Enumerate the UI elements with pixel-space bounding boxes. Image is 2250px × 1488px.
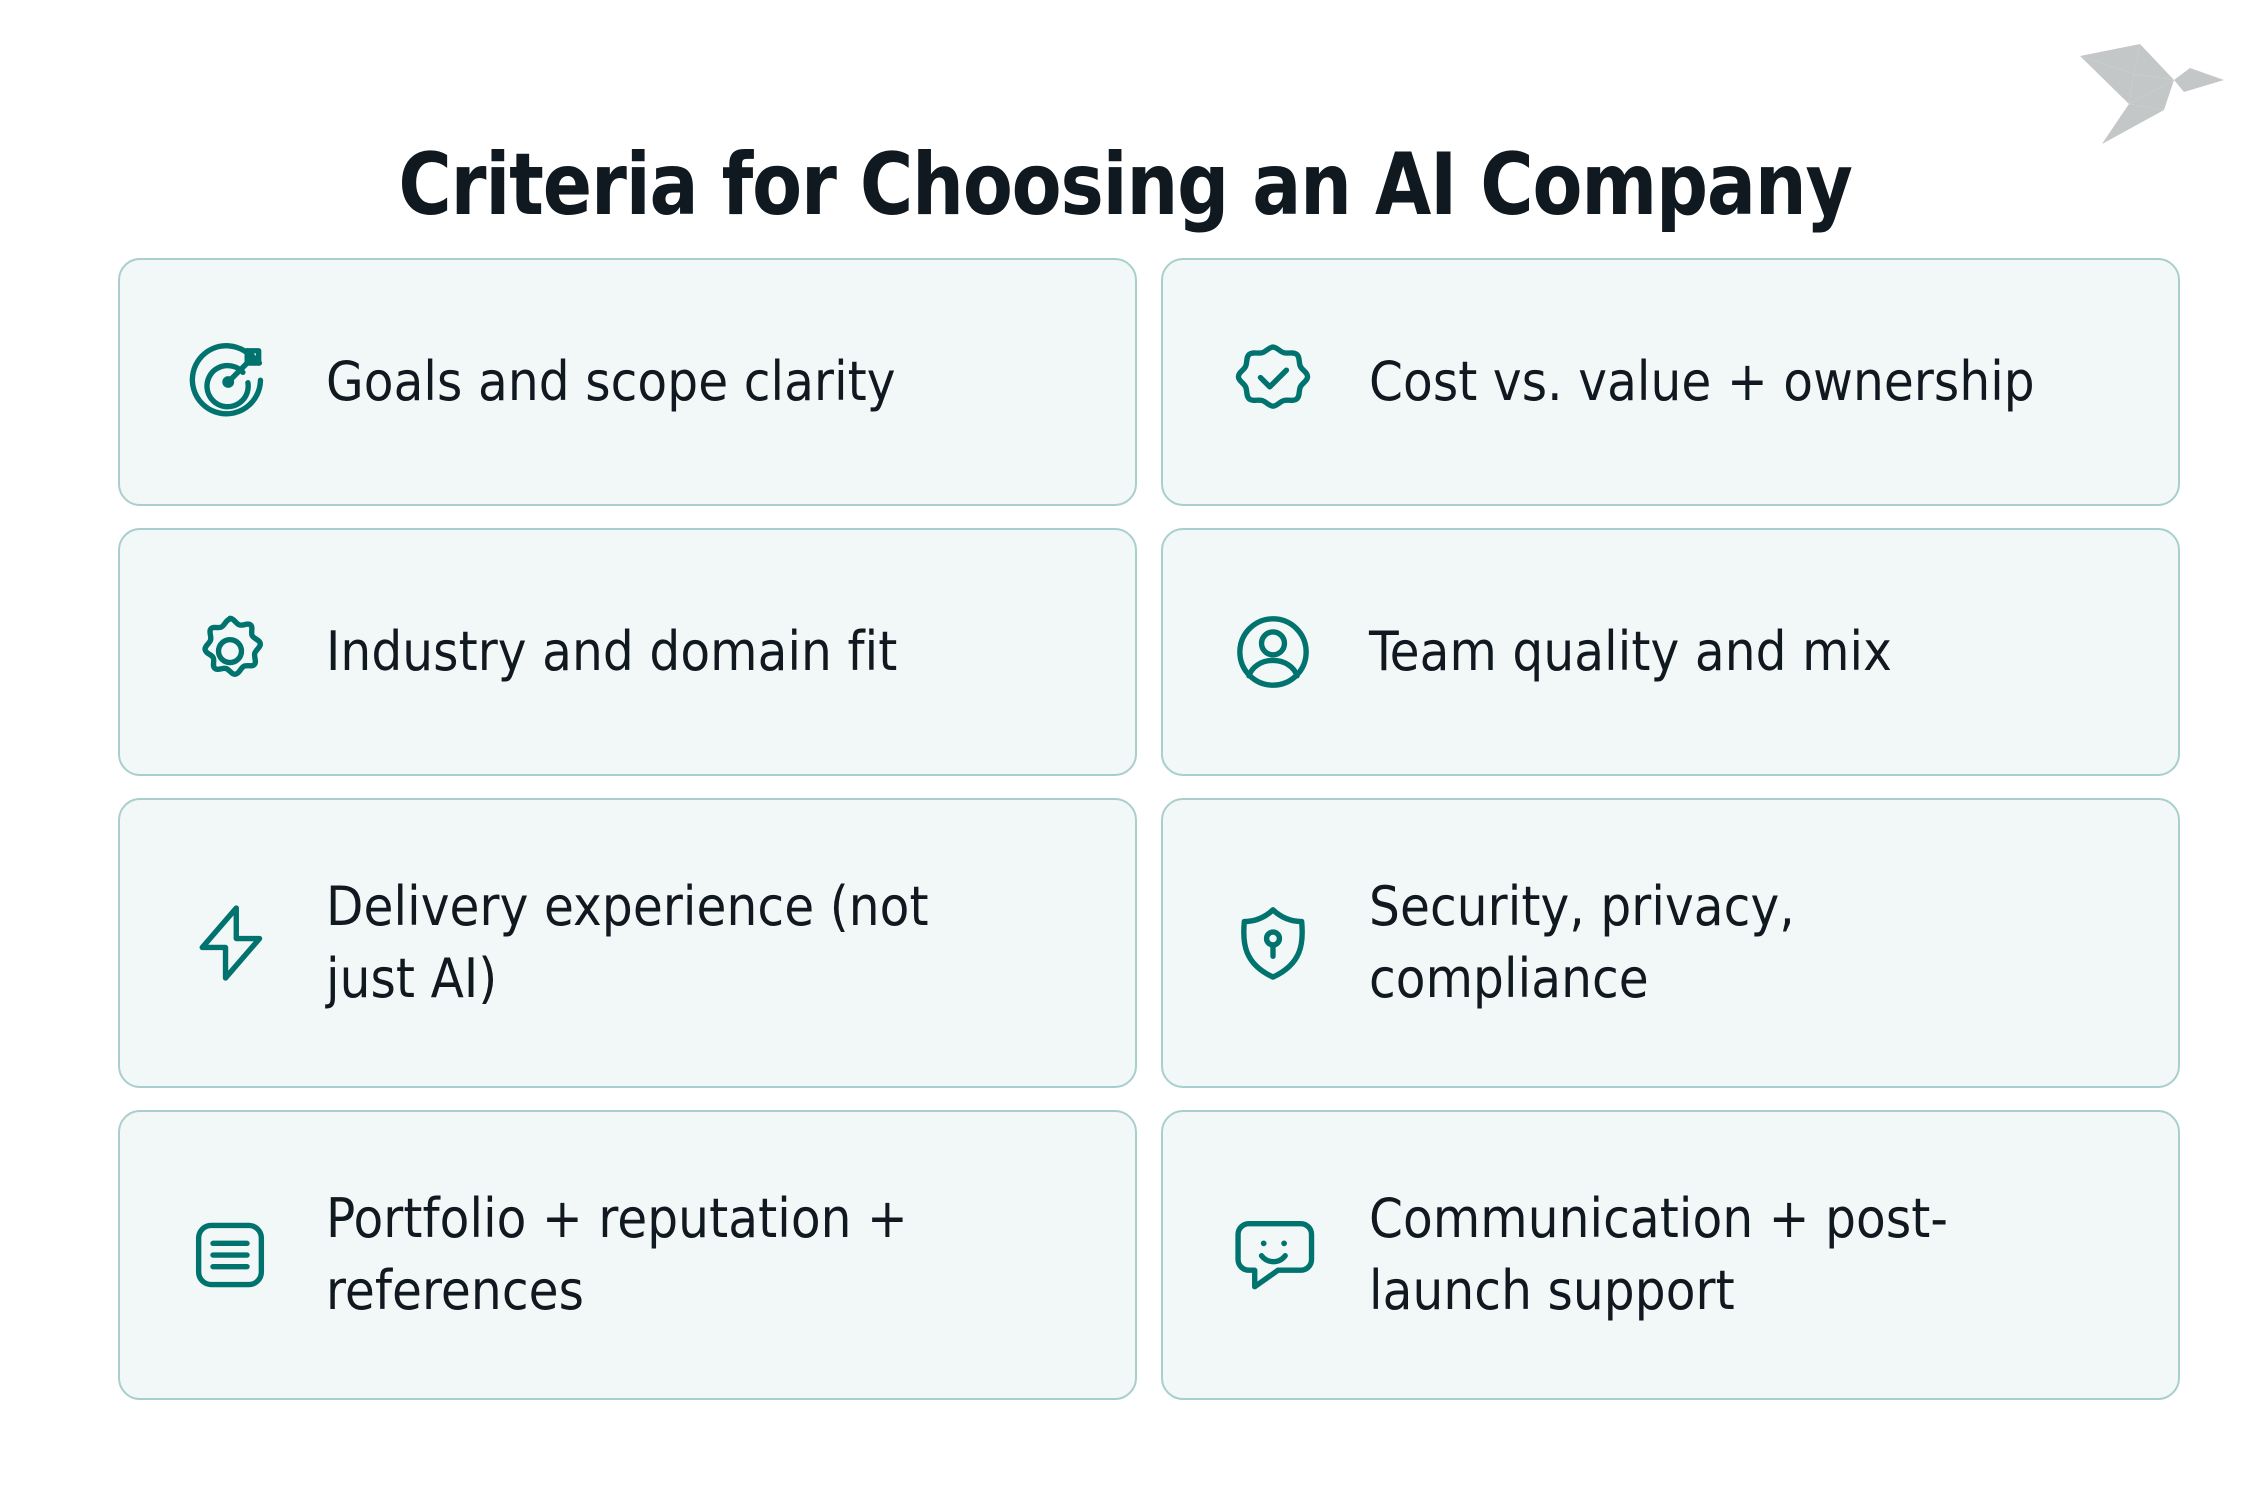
criteria-card-communication-post-launch-support[interactable]: Communication + post-launch support	[1161, 1110, 2180, 1400]
criteria-card-delivery-experience[interactable]: Delivery experience (not just AI)	[118, 798, 1137, 1088]
gear-icon	[178, 600, 282, 704]
verified-badge-check-icon	[1221, 330, 1325, 434]
criteria-card-label: Delivery experience (not just AI)	[326, 871, 1016, 1016]
page-title: Criteria for Choosing an AI Company	[398, 142, 1851, 230]
criteria-grid: Goals and scope clarity Cost vs. value +…	[118, 258, 2180, 1400]
criteria-card-label: Team quality and mix	[1369, 616, 1892, 688]
chat-smiley-icon	[1221, 1203, 1325, 1307]
document-lines-icon	[178, 1203, 282, 1307]
lightning-bolt-icon	[178, 891, 282, 995]
criteria-card-label: Communication + post-launch support	[1369, 1183, 2059, 1328]
shield-lock-icon	[1221, 891, 1325, 995]
infographic-page: Criteria for Choosing an AI Company Goal…	[0, 0, 2250, 1488]
target-arrow-icon	[178, 330, 282, 434]
criteria-card-team-quality-and-mix[interactable]: Team quality and mix	[1161, 528, 2180, 776]
criteria-card-portfolio-reputation-references[interactable]: Portfolio + reputation + references	[118, 1110, 1137, 1400]
user-circle-icon	[1221, 600, 1325, 704]
criteria-card-goals-and-scope-clarity[interactable]: Goals and scope clarity	[118, 258, 1137, 506]
criteria-card-cost-vs-value-ownership[interactable]: Cost vs. value + ownership	[1161, 258, 2180, 506]
criteria-card-label: Cost vs. value + ownership	[1369, 346, 2035, 418]
criteria-card-label: Goals and scope clarity	[326, 346, 896, 418]
criteria-card-label: Security, privacy, compliance	[1369, 871, 2059, 1016]
criteria-card-industry-and-domain-fit[interactable]: Industry and domain fit	[118, 528, 1137, 776]
criteria-card-label: Portfolio + reputation + references	[326, 1183, 1016, 1328]
page-title-wrapper: Criteria for Choosing an AI Company	[0, 84, 2250, 287]
criteria-card-security-privacy-compliance[interactable]: Security, privacy, compliance	[1161, 798, 2180, 1088]
criteria-card-label: Industry and domain fit	[326, 616, 897, 688]
